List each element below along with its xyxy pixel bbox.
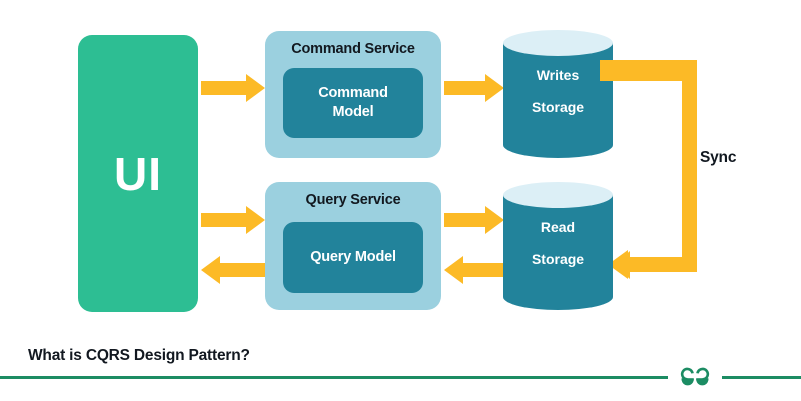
read-storage-label-line1: Read [541,219,575,235]
command-service-box: Command Service Command Model [265,31,441,158]
arrow-shaft [217,263,265,277]
command-model-label-line1: Command [318,85,388,101]
writes-storage-label-line2: Storage [503,100,613,114]
read-storage-label-line2: Storage [503,252,613,266]
arrow-head-right [246,206,265,234]
cylinder-top [503,30,613,56]
read-storage-cylinder: Read Storage [503,182,613,310]
arrow-ui-to-command-service [201,74,265,102]
arrow-shaft [460,263,504,277]
figure-caption: What is CQRS Design Pattern? [28,347,250,365]
query-service-box: Query Service Query Model [265,182,441,310]
writes-storage-label: Writes Storage [503,68,613,114]
arrow-head-right [485,206,504,234]
command-service-title: Command Service [265,41,441,57]
arrow-head-right [246,74,265,102]
sync-vertical-bar [682,66,697,272]
arrow-head-left [201,256,220,284]
writes-storage-label-line1: Writes [537,67,580,83]
arrow-query-service-to-ui [201,256,265,284]
arrow-shaft [201,213,249,227]
cylinder-top [503,182,613,208]
arrow-read-storage-to-query-service [444,256,504,284]
ui-block-label: UI [114,151,162,197]
writes-storage-cylinder: Writes Storage [503,30,613,158]
arrow-shaft [444,213,488,227]
geeksforgeeks-logo [668,360,722,394]
arrow-head-left [444,256,463,284]
query-service-title: Query Service [265,192,441,208]
diagram-canvas: UI Command Service Command Model Writes … [0,0,801,401]
command-model-label: Command Model [318,84,388,121]
arrow-shaft [444,81,488,95]
gfg-monogram-icon [672,362,718,392]
command-model-box: Command Model [283,68,423,138]
sync-connector-arrow [600,60,720,285]
query-model-box: Query Model [283,222,423,293]
arrow-shaft [201,81,249,95]
arrow-query-service-to-read-storage [444,206,504,234]
query-model-label: Query Model [310,248,396,267]
sync-bottom-bar [628,257,697,272]
command-model-label-line2: Model [333,104,374,120]
arrow-head-right [485,74,504,102]
arrow-command-service-to-writes-storage [444,74,504,102]
read-storage-label: Read Storage [503,220,613,266]
ui-block: UI [78,35,198,312]
arrow-ui-to-query-service [201,206,265,234]
sync-label: Sync [700,149,736,167]
